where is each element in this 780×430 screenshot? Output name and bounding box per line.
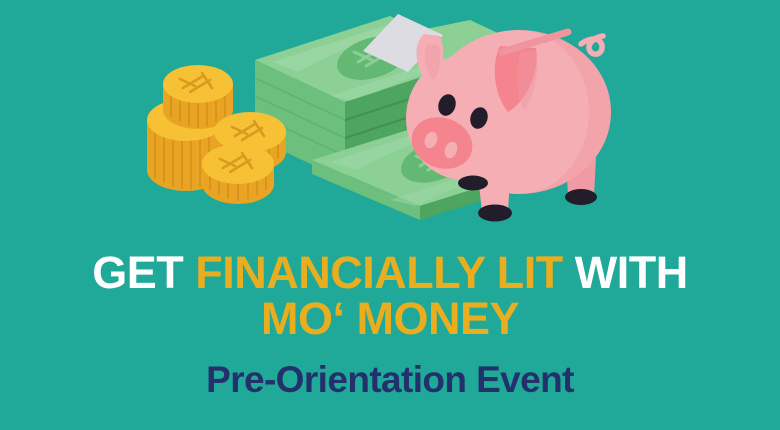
subtitle: Pre-Orientation Event bbox=[0, 359, 780, 401]
headline-line-2: MO‘ MONEY bbox=[0, 296, 780, 342]
headline-word-get: GET bbox=[92, 247, 183, 298]
piggy-bank-money-illustration bbox=[0, 0, 780, 235]
headline-word-mo: MO‘ bbox=[261, 293, 345, 344]
text-block: GET FINANCIALLY LIT WITH MO‘ MONEY Pre-O… bbox=[0, 234, 780, 430]
promo-banner: GET FINANCIALLY LIT WITH MO‘ MONEY Pre-O… bbox=[0, 0, 780, 430]
pig-tail-icon bbox=[581, 36, 603, 54]
headline-word-money: MONEY bbox=[357, 293, 520, 344]
headline-word-financially: FINANCIALLY bbox=[195, 247, 485, 298]
headline-word-lit: LIT bbox=[497, 247, 563, 298]
headline-line-1: GET FINANCIALLY LIT WITH bbox=[0, 250, 780, 296]
headline-word-with: WITH bbox=[575, 247, 688, 298]
